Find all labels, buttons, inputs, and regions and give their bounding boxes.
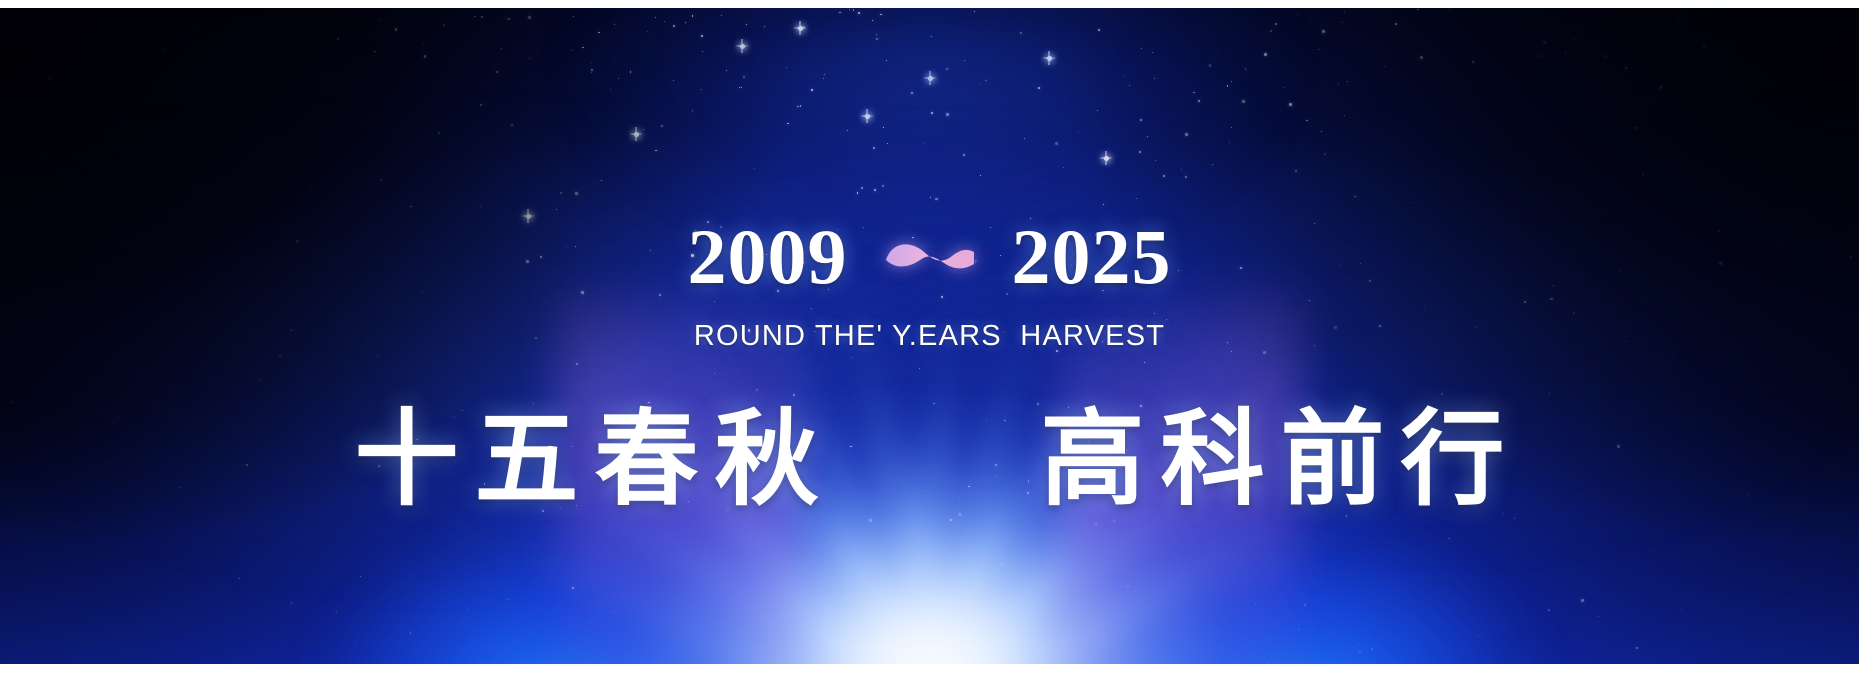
bottom-white-strip bbox=[0, 664, 1859, 680]
headline-row: 十五春秋 高科前行 bbox=[0, 398, 1859, 521]
anniversary-banner: 2009 2025 ROUND THE' Y.EARS HARVEST 十五春秋… bbox=[0, 0, 1859, 680]
headline-phrase-left: 十五春秋 bbox=[338, 398, 834, 521]
year-range: 2009 2025 bbox=[0, 218, 1859, 296]
headline-phrase-right: 高科前行 bbox=[1025, 398, 1521, 521]
year-end: 2025 bbox=[1012, 218, 1172, 296]
banner-subtitle: ROUND THE' Y.EARS HARVEST bbox=[0, 320, 1859, 353]
year-start: 2009 bbox=[688, 218, 848, 296]
top-white-strip bbox=[0, 0, 1859, 8]
wave-tilde-icon bbox=[882, 234, 978, 280]
